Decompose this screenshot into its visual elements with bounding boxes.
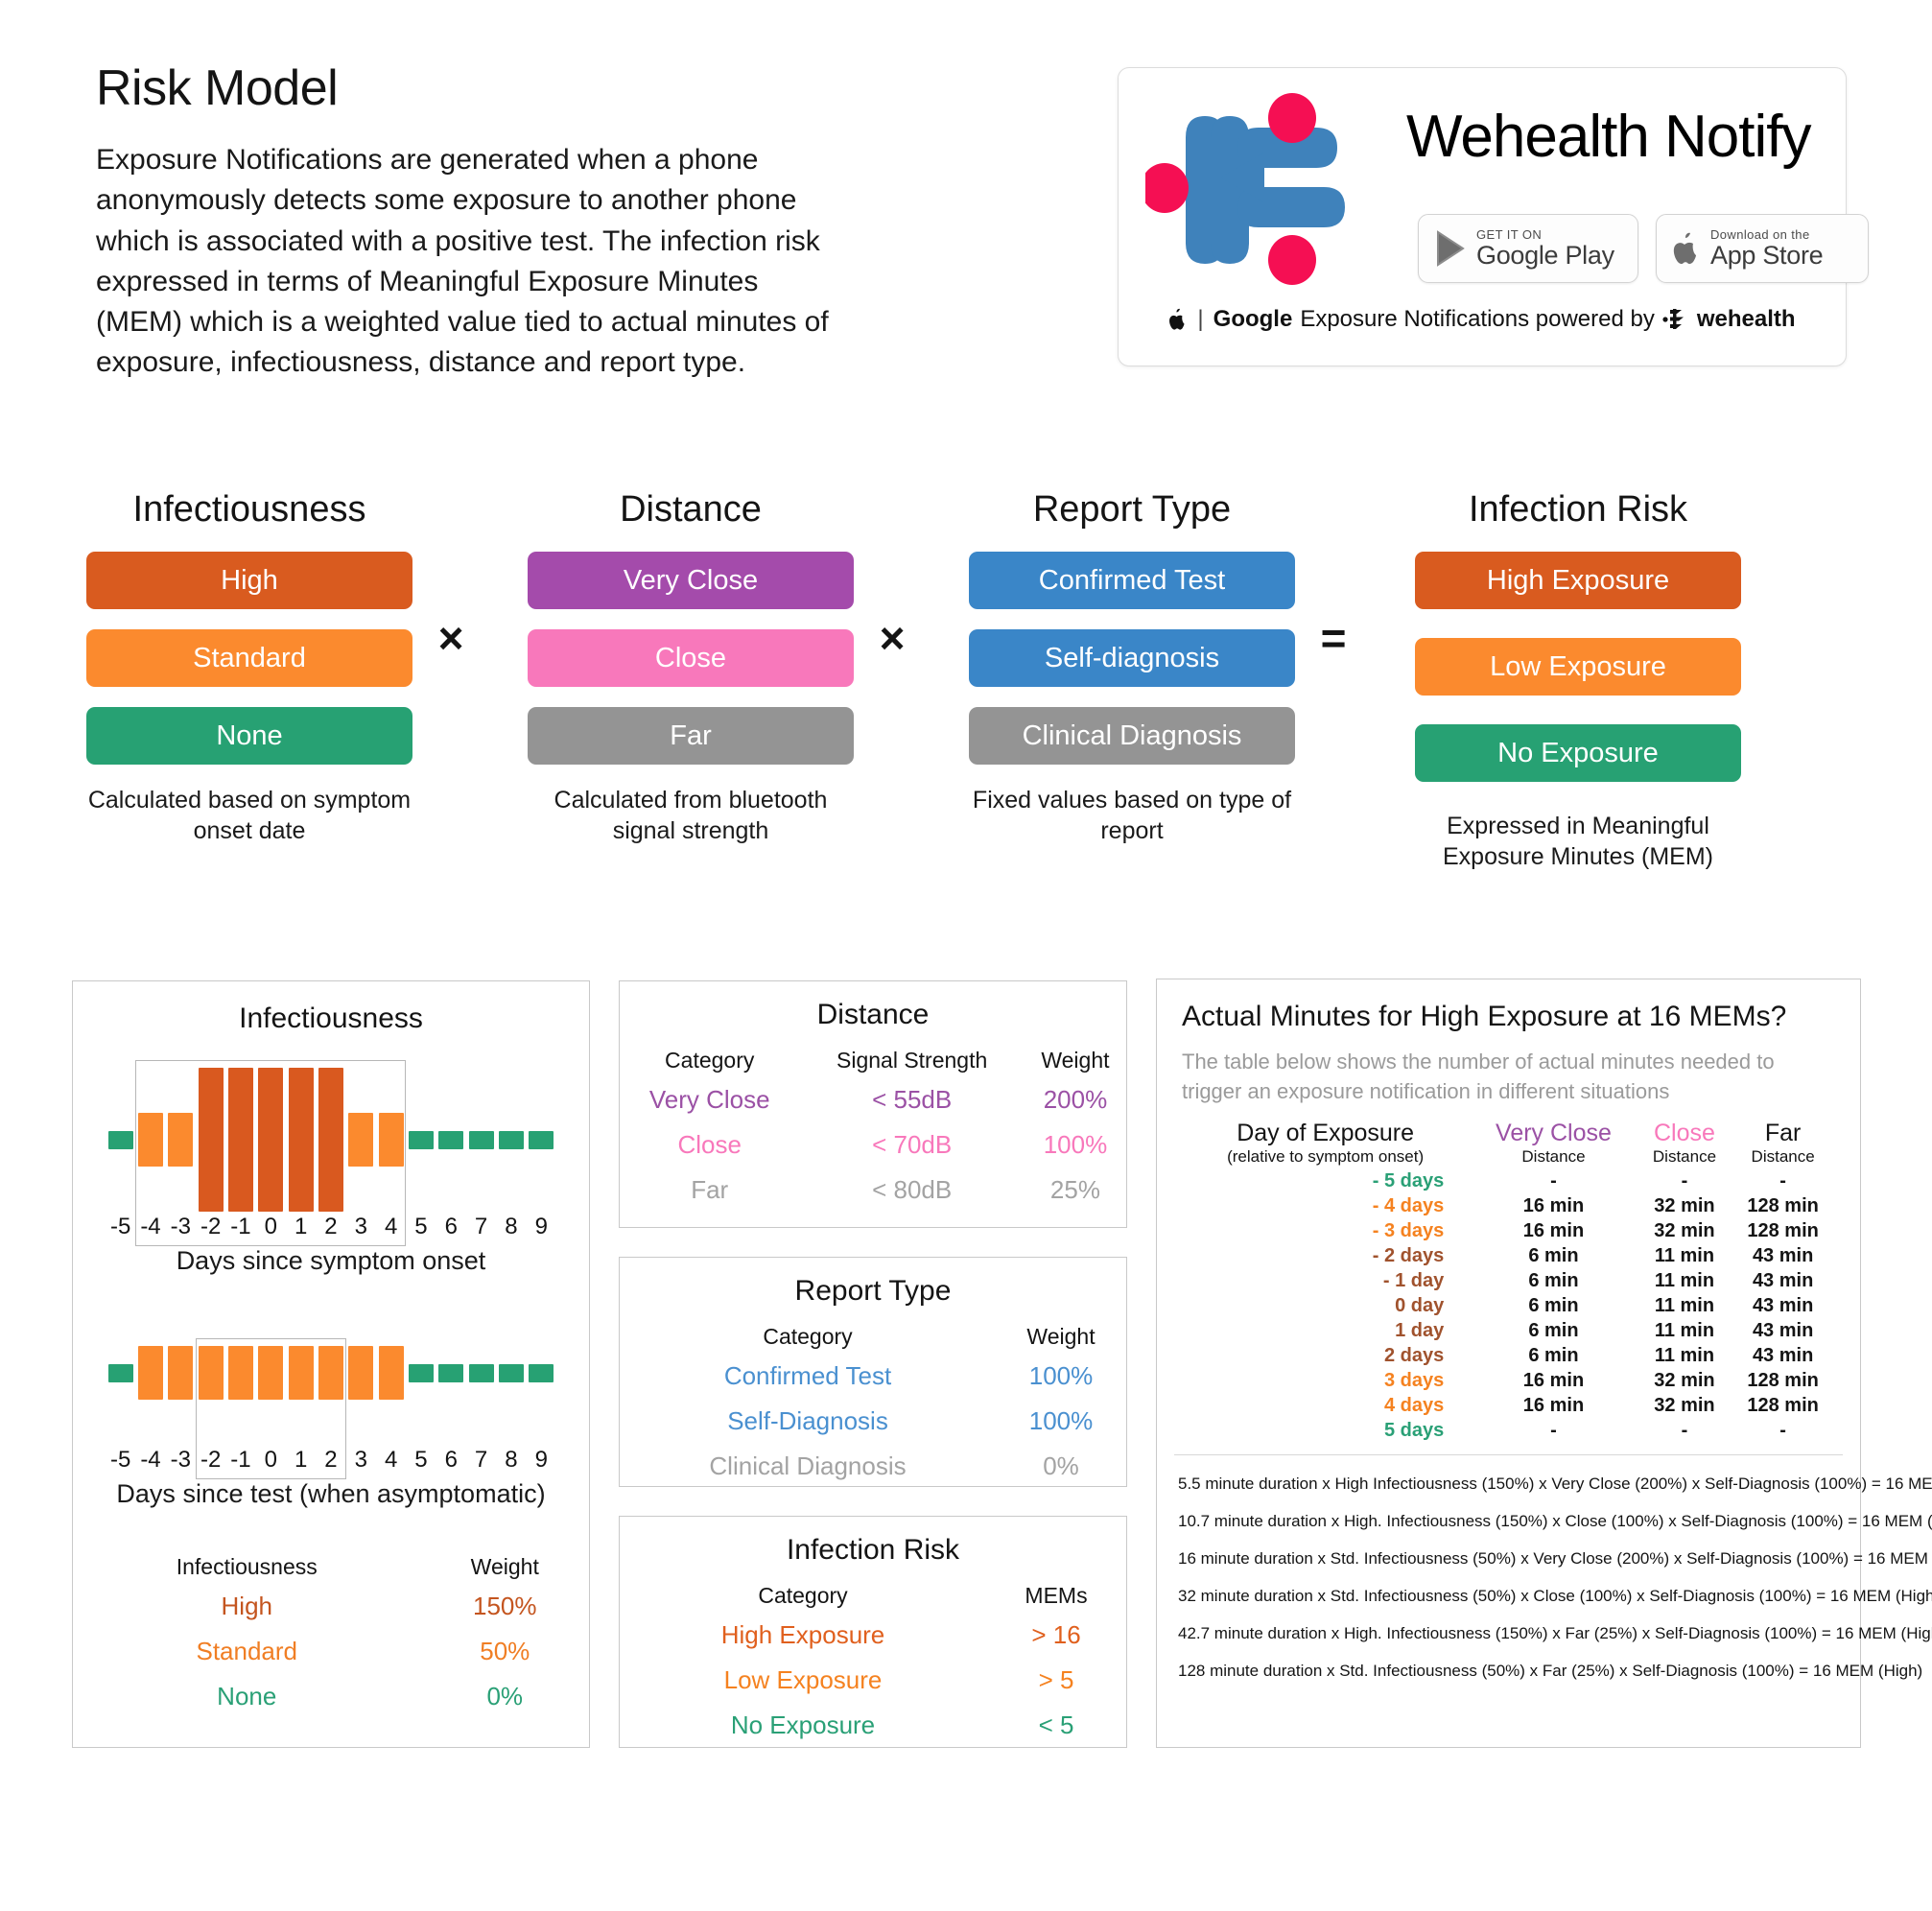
table-row: High150% [73, 1584, 589, 1629]
column-note: Calculated based on symptom onset date [86, 785, 412, 846]
wehealth-logo-icon [1145, 89, 1385, 291]
header-section: Risk Model Exposure Notifications are ge… [0, 0, 1932, 480]
google-badge-large: Google Play [1476, 242, 1614, 269]
axis-tick-6: 6 [436, 1214, 466, 1240]
apple-badge-small: Download on the [1710, 228, 1823, 242]
attribution-brand: wehealth [1697, 306, 1796, 333]
chart-days-since-test: -5-4-3-2-10123456789Days since test (whe… [106, 1301, 556, 1509]
report-type-table: Category Weight Confirmed Test100%Self-D… [620, 1313, 1126, 1489]
minutes-close: 11 min [1638, 1293, 1732, 1318]
table-row: 0 day6 min11 min43 min [1182, 1293, 1835, 1318]
formula-line: 128 minute duration x Std. Infectiousnes… [1174, 1652, 1843, 1689]
col-header-main: Far [1731, 1120, 1835, 1147]
bar-slot [496, 1301, 526, 1445]
minutes-very-close: - [1469, 1418, 1637, 1443]
col-header-mems: MEMs [986, 1572, 1126, 1613]
column-title: Infection Risk [1415, 489, 1741, 531]
bigtable-col-header: Day of Exposure(relative to symptom onse… [1182, 1120, 1469, 1168]
attribution-text: Exposure Notifications powered by [1300, 306, 1655, 333]
chart-days-since-symptom-onset: -5-4-3-2-10123456789Days since symptom o… [106, 1068, 556, 1276]
table-row: No Exposure< 5 [620, 1703, 1126, 1748]
formula-column-distance: Distance Very Close Close Far Calculated… [528, 489, 854, 846]
distance-signal: < 70dB [799, 1122, 1024, 1168]
bigtable-col-header: FarDistance [1731, 1120, 1835, 1168]
bar-slot [376, 1301, 406, 1445]
chip-high[interactable]: High [86, 552, 412, 609]
formula-line: 10.7 minute duration x High. Infectiousn… [1174, 1502, 1843, 1540]
bar-slot [527, 1301, 556, 1445]
minutes-far: 43 min [1731, 1268, 1835, 1293]
bar-slot [436, 1301, 466, 1445]
formula-column-infection-risk: Infection Risk High Exposure Low Exposur… [1415, 489, 1741, 872]
minutes-far: 128 min [1731, 1393, 1835, 1418]
day-of-exposure-label: - 2 days [1182, 1243, 1469, 1268]
minutes-close: - [1638, 1168, 1732, 1193]
axis-tick-4: 4 [376, 1447, 406, 1474]
table-row: None0% [73, 1674, 589, 1719]
app-promo-card: Wehealth Notify GET IT ON Google Play Do… [1118, 67, 1847, 366]
col-header-category: Category [620, 1313, 996, 1354]
day-of-exposure-label: 1 day [1182, 1318, 1469, 1343]
bar-9 [529, 1131, 554, 1149]
bar-slot [166, 1301, 196, 1445]
wehealth-mark-icon [1662, 307, 1689, 332]
chip-standard[interactable]: Standard [86, 629, 412, 687]
column-note: Fixed values based on type of report [969, 785, 1295, 846]
minutes-close: 32 min [1638, 1218, 1732, 1243]
infection-risk-table: Category MEMs High Exposure> 16Low Expos… [620, 1572, 1126, 1748]
risk-category: Low Exposure [620, 1658, 986, 1703]
bar-6 [438, 1131, 463, 1149]
column-title: Infectiousness [86, 489, 412, 531]
col-header-sub: Distance [1638, 1147, 1732, 1167]
minutes-close: 11 min [1638, 1343, 1732, 1368]
col-header-sub: Distance [1731, 1147, 1835, 1167]
minutes-close: 11 min [1638, 1243, 1732, 1268]
panel-subtitle: The table below shows the number of actu… [1182, 1047, 1815, 1106]
minutes-very-close: 6 min [1469, 1318, 1637, 1343]
infectiousness-weight-table: Infectiousness Weight High150%Standard50… [73, 1544, 589, 1719]
minutes-close: 32 min [1638, 1393, 1732, 1418]
apple-small-icon [1168, 308, 1188, 331]
bar-slot [406, 1301, 436, 1445]
google-badge-small: GET IT ON [1476, 228, 1614, 242]
distance-category: Far [620, 1168, 799, 1213]
bar-5 [409, 1131, 434, 1149]
risk-mems: > 16 [986, 1613, 1126, 1658]
table-row: - 5 days--- [1182, 1168, 1835, 1193]
bar-6 [438, 1364, 463, 1382]
chart-x-label: Days since symptom onset [106, 1246, 556, 1276]
panel-report-type: Report Type Category Weight Confirmed Te… [619, 1257, 1127, 1487]
intro-paragraph: Exposure Notifications are generated whe… [96, 140, 835, 384]
table-row: Clinical Diagnosis0% [620, 1444, 1126, 1489]
formula-examples-list: 5.5 minute duration x High Infectiousnes… [1174, 1454, 1843, 1689]
distance-category: Close [620, 1122, 799, 1168]
table-row: - 4 days16 min32 min128 min [1182, 1193, 1835, 1218]
axis-tick-9: 9 [527, 1447, 556, 1474]
distance-weight: 200% [1025, 1077, 1126, 1122]
report-category: Self-Diagnosis [620, 1399, 996, 1444]
bar-7 [469, 1131, 494, 1149]
distance-signal: < 80dB [799, 1168, 1024, 1213]
formula-line: 16 minute duration x Std. Infectiousness… [1174, 1540, 1843, 1577]
table-row: Confirmed Test100% [620, 1354, 1126, 1399]
chip-high-exposure[interactable]: High Exposure [1415, 552, 1741, 609]
table-row: Self-Diagnosis100% [620, 1399, 1126, 1444]
col-header-weight: Weight [1025, 1037, 1126, 1077]
intro-block: Risk Model Exposure Notifications are ge… [96, 59, 863, 384]
panel-title: Actual Minutes for High Exposure at 16 M… [1182, 1001, 1835, 1033]
brand-name: Wehealth Notify [1406, 103, 1811, 171]
infectiousness-weight: 0% [421, 1674, 589, 1719]
minutes-far: 43 min [1731, 1293, 1835, 1318]
minutes-close: 11 min [1638, 1318, 1732, 1343]
col-header-main: Very Close [1469, 1120, 1637, 1147]
bar-5 [409, 1364, 434, 1382]
chip-very-close[interactable]: Very Close [528, 552, 854, 609]
minutes-far: 128 min [1731, 1193, 1835, 1218]
bar-8 [499, 1364, 524, 1382]
page-title: Risk Model [96, 59, 863, 117]
col-header-main: Close [1638, 1120, 1732, 1147]
infectiousness-weight: 150% [421, 1584, 589, 1629]
bar--3 [168, 1346, 193, 1400]
table-row: Standard50% [73, 1629, 589, 1674]
table-row: - 3 days16 min32 min128 min [1182, 1218, 1835, 1243]
bar--5 [108, 1131, 133, 1149]
day-of-exposure-label: 4 days [1182, 1393, 1469, 1418]
bar-slot [346, 1301, 376, 1445]
minutes-very-close: 16 min [1469, 1193, 1637, 1218]
chip-clinical-diagnosis[interactable]: Clinical Diagnosis [969, 707, 1295, 765]
attribution-divider: | [1197, 306, 1203, 333]
minutes-very-close: 6 min [1469, 1243, 1637, 1268]
axis-tick-5: 5 [406, 1214, 436, 1240]
panel-title: Infection Risk [620, 1534, 1126, 1567]
distance-signal: < 55dB [799, 1077, 1024, 1122]
chart-x-label: Days since test (when asymptomatic) [106, 1479, 556, 1509]
col-header-sub: (relative to symptom onset) [1182, 1147, 1469, 1167]
operator-equals: = [1305, 612, 1362, 664]
distance-category: Very Close [620, 1077, 799, 1122]
axis-tick-9: 9 [527, 1214, 556, 1240]
bar-slot [527, 1068, 556, 1212]
minutes-far: 43 min [1731, 1343, 1835, 1368]
minutes-very-close: 16 min [1469, 1218, 1637, 1243]
highlight-box [196, 1338, 346, 1479]
report-category: Clinical Diagnosis [620, 1444, 996, 1489]
col-header-weight: Weight [996, 1313, 1126, 1354]
minutes-very-close: - [1469, 1168, 1637, 1193]
minutes-far: 128 min [1731, 1368, 1835, 1393]
axis-tick-6: 6 [436, 1447, 466, 1474]
axis-tick-3: 3 [346, 1447, 376, 1474]
column-note: Expressed in Meaningful Exposure Minutes… [1415, 811, 1741, 872]
minutes-close: 32 min [1638, 1193, 1732, 1218]
chip-close[interactable]: Close [528, 629, 854, 687]
minutes-close: 11 min [1638, 1268, 1732, 1293]
col-header-category: Category [620, 1037, 799, 1077]
axis-tick-8: 8 [496, 1447, 526, 1474]
risk-category: High Exposure [620, 1613, 986, 1658]
chip-low-exposure[interactable]: Low Exposure [1415, 638, 1741, 696]
actual-minutes-table: Day of Exposure(relative to symptom onse… [1182, 1120, 1835, 1443]
highlight-box [135, 1060, 406, 1246]
axis-tick-5: 5 [406, 1447, 436, 1474]
bar-3 [348, 1346, 373, 1400]
axis-tick-7: 7 [466, 1214, 496, 1240]
panel-actual-minutes: Actual Minutes for High Exposure at 16 M… [1156, 979, 1861, 1748]
formula-column-report-type: Report Type Confirmed Test Self-diagnosi… [969, 489, 1295, 846]
minutes-far: 43 min [1731, 1243, 1835, 1268]
minutes-very-close: 6 min [1469, 1343, 1637, 1368]
google-play-icon [1434, 230, 1467, 267]
minutes-very-close: 16 min [1469, 1368, 1637, 1393]
column-note: Calculated from bluetooth signal strengt… [528, 785, 854, 846]
attribution-line: | Google Exposure Notifications powered … [1119, 306, 1846, 333]
table-row: - 2 days6 min11 min43 min [1182, 1243, 1835, 1268]
table-row: 1 day6 min11 min43 min [1182, 1318, 1835, 1343]
formula-line: 42.7 minute duration x High. Infectiousn… [1174, 1615, 1843, 1652]
panel-infectiousness: Infectiousness -5-4-3-2-10123456789Days … [72, 980, 590, 1748]
bar-4 [379, 1346, 404, 1400]
minutes-far: - [1731, 1418, 1835, 1443]
minutes-far: - [1731, 1168, 1835, 1193]
formula-line: 5.5 minute duration x High Infectiousnes… [1174, 1465, 1843, 1502]
table-row: 3 days16 min32 min128 min [1182, 1368, 1835, 1393]
minutes-close: 32 min [1638, 1368, 1732, 1393]
col-header-signal-strength: Signal Strength [799, 1037, 1024, 1077]
col-header-category: Category [620, 1572, 986, 1613]
table-row: Very Close< 55dB200% [620, 1077, 1126, 1122]
chip-far[interactable]: Far [528, 707, 854, 765]
axis-tick--4: -4 [135, 1447, 165, 1474]
risk-mems: < 5 [986, 1703, 1126, 1748]
bar-9 [529, 1364, 554, 1382]
google-play-badge[interactable]: GET IT ON Google Play [1418, 214, 1638, 283]
infectiousness-category: None [73, 1674, 421, 1719]
panel-infection-risk: Infection Risk Category MEMs High Exposu… [619, 1516, 1127, 1748]
chip-no-exposure[interactable]: No Exposure [1415, 724, 1741, 782]
minutes-very-close: 6 min [1469, 1293, 1637, 1318]
chip-self-diagnosis[interactable]: Self-diagnosis [969, 629, 1295, 687]
distance-weight: 25% [1025, 1168, 1126, 1213]
attribution-google: Google [1213, 306, 1293, 333]
day-of-exposure-label: - 3 days [1182, 1218, 1469, 1243]
report-weight: 100% [996, 1399, 1126, 1444]
bar-slot [496, 1068, 526, 1212]
col-header-sub: Distance [1469, 1147, 1637, 1167]
col-header-weight: Weight [421, 1544, 589, 1584]
table-row: Far< 80dB25% [620, 1168, 1126, 1213]
bigtable-col-header: CloseDistance [1638, 1120, 1732, 1168]
axis-tick-8: 8 [496, 1214, 526, 1240]
table-row: High Exposure> 16 [620, 1613, 1126, 1658]
infectiousness-category: High [73, 1584, 421, 1629]
report-weight: 0% [996, 1444, 1126, 1489]
bar-slot [106, 1068, 135, 1212]
table-row: - 1 day6 min11 min43 min [1182, 1268, 1835, 1293]
column-title: Report Type [969, 489, 1295, 531]
day-of-exposure-label: - 4 days [1182, 1193, 1469, 1218]
minutes-close: - [1638, 1418, 1732, 1443]
bigtable-col-header: Very CloseDistance [1469, 1120, 1637, 1168]
bar-slot [466, 1068, 496, 1212]
formula-column-infectiousness: Infectiousness High Standard None Calcul… [86, 489, 412, 846]
distance-weight: 100% [1025, 1122, 1126, 1168]
axis-tick--5: -5 [106, 1214, 135, 1240]
bar-8 [499, 1131, 524, 1149]
bar-slot [106, 1301, 135, 1445]
distance-table: Category Signal Strength Weight Very Clo… [620, 1037, 1126, 1213]
day-of-exposure-label: - 5 days [1182, 1168, 1469, 1193]
day-of-exposure-label: - 1 day [1182, 1268, 1469, 1293]
table-row: Close< 70dB100% [620, 1122, 1126, 1168]
panel-title: Report Type [620, 1275, 1126, 1308]
infectiousness-category: Standard [73, 1629, 421, 1674]
panel-distance: Distance Category Signal Strength Weight… [619, 980, 1127, 1228]
table-row: Low Exposure> 5 [620, 1658, 1126, 1703]
minutes-very-close: 16 min [1469, 1393, 1637, 1418]
apple-badge-large: App Store [1710, 242, 1823, 269]
chip-confirmed-test[interactable]: Confirmed Test [969, 552, 1295, 609]
bar-slot [135, 1301, 165, 1445]
minutes-very-close: 6 min [1469, 1268, 1637, 1293]
bar-7 [469, 1364, 494, 1382]
bar--5 [108, 1364, 133, 1382]
day-of-exposure-label: 0 day [1182, 1293, 1469, 1318]
table-row: 4 days16 min32 min128 min [1182, 1393, 1835, 1418]
risk-mems: > 5 [986, 1658, 1126, 1703]
operator-multiply-2: × [863, 612, 921, 664]
operator-multiply-1: × [422, 612, 480, 664]
panel-title: Infectiousness [73, 1003, 589, 1035]
day-of-exposure-label: 3 days [1182, 1368, 1469, 1393]
panel-title: Distance [620, 999, 1126, 1031]
col-header-infectiousness: Infectiousness [73, 1544, 421, 1584]
formula-row: Infectiousness High Standard None Calcul… [0, 489, 1932, 902]
bar-slot [436, 1068, 466, 1212]
day-of-exposure-label: 2 days [1182, 1343, 1469, 1368]
table-row: 5 days--- [1182, 1418, 1835, 1443]
risk-category: No Exposure [620, 1703, 986, 1748]
axis-tick--5: -5 [106, 1447, 135, 1474]
column-title: Distance [528, 489, 854, 531]
table-row: 2 days6 min11 min43 min [1182, 1343, 1835, 1368]
bar-slot [406, 1068, 436, 1212]
axis-tick--3: -3 [166, 1447, 196, 1474]
minutes-far: 128 min [1731, 1218, 1835, 1243]
report-category: Confirmed Test [620, 1354, 996, 1399]
bar-slot [466, 1301, 496, 1445]
formula-line: 32 minute duration x Std. Infectiousness… [1174, 1577, 1843, 1615]
app-store-badge[interactable]: Download on the App Store [1656, 214, 1869, 283]
col-header-main: Day of Exposure [1182, 1120, 1469, 1147]
apple-icon [1672, 230, 1701, 267]
infectiousness-weight: 50% [421, 1629, 589, 1674]
chip-none[interactable]: None [86, 707, 412, 765]
report-weight: 100% [996, 1354, 1126, 1399]
minutes-far: 43 min [1731, 1318, 1835, 1343]
day-of-exposure-label: 5 days [1182, 1418, 1469, 1443]
axis-tick-7: 7 [466, 1447, 496, 1474]
bar--4 [138, 1346, 163, 1400]
